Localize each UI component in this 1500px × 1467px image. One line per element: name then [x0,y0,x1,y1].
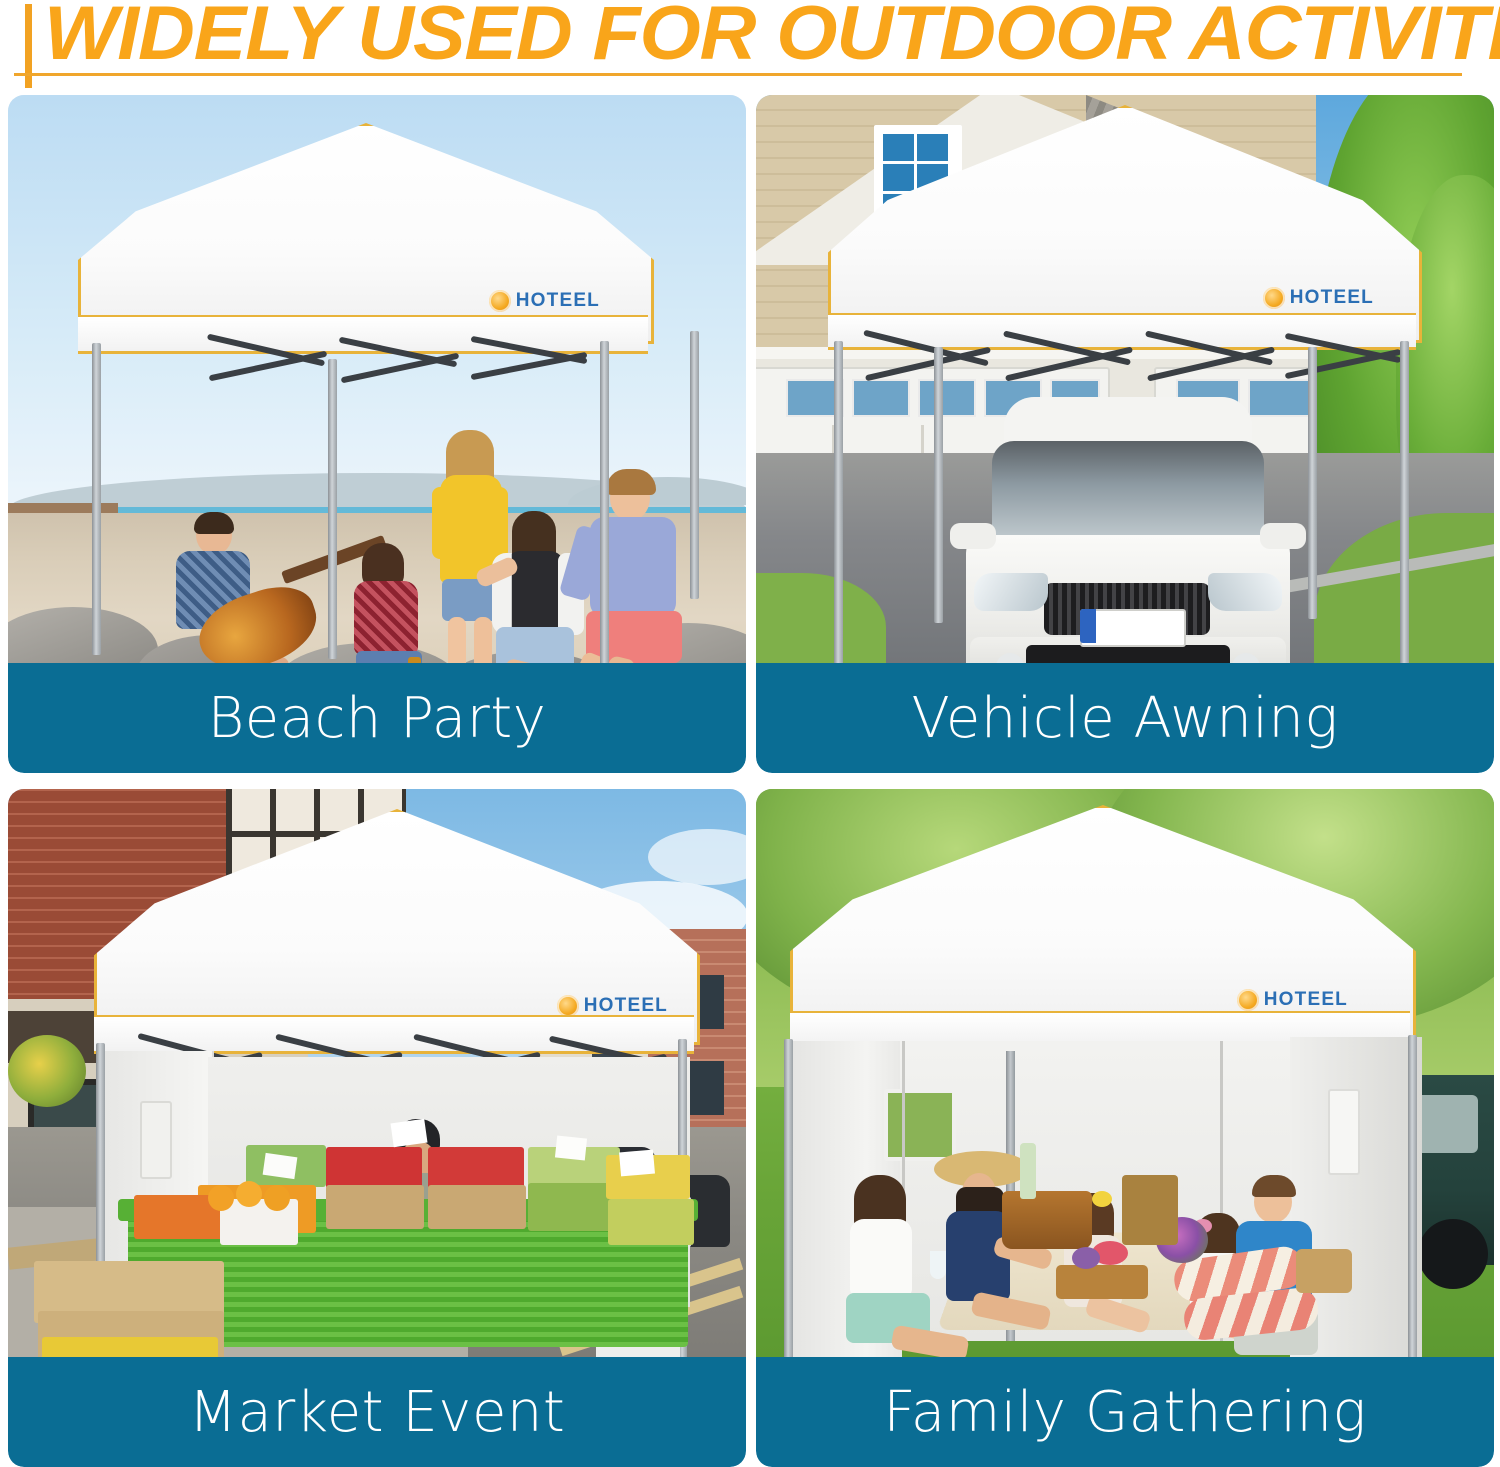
scene-beach: HOTEEL [8,95,746,663]
canopy-market: HOTEEL [94,809,694,1039]
canopy-sun-logo-icon [1237,989,1259,1011]
caption-bar: Vehicle Awning [756,663,1494,773]
canopy-driveway: HOTEEL [828,105,1416,337]
canopy-sun-logo-icon [489,290,511,312]
canopy-leg-front-right [1400,341,1409,663]
wooden-chair [1122,1175,1178,1245]
car-windshield [992,441,1264,549]
license-plate-eu-band [1080,609,1096,643]
panel-caption: Vehicle Awning [911,686,1338,751]
picnic-food-tray [1056,1265,1148,1299]
caption-bar: Beach Party [8,663,746,773]
torso [850,1219,912,1297]
crate-box-card-2 [428,1185,526,1229]
leg [448,617,466,663]
brand-name: HOTEEL [1264,989,1348,1011]
scene-backyard: HOTEEL [756,789,1494,1357]
fruit-grapes [1072,1247,1100,1269]
canopy-leg-front-right [600,341,609,663]
crate-box-card-1 [326,1185,424,1229]
page-title: WIDELY USED FOR OUTDOOR ACTIVITIES [44,0,1500,74]
panel-family-gathering[interactable]: HOTEEL [756,789,1494,1467]
scene-driveway: HOTEEL [756,95,1494,663]
car-mirror-right [1260,523,1306,549]
caption-bar: Market Event [8,1357,746,1467]
orange-pile-2 [236,1181,262,1207]
hair [606,469,656,495]
panel-caption: Beach Party [208,686,547,751]
panel-vehicle-awning[interactable]: HOTEEL Vehicle Awning [756,95,1494,773]
canopy-leg-back-right [1308,347,1317,619]
leg [970,1291,1051,1331]
outdoor-activities-infographic: WIDELY USED FOR OUTDOOR ACTIVITIES [0,0,1500,1467]
canopy-sun-logo-icon [1263,287,1285,309]
crate-pears [608,1199,694,1245]
scene-market: HOTEEL [8,789,746,1357]
vintage-car-wheel [1418,1219,1488,1289]
header-banner: WIDELY USED FOR OUTDOOR ACTIVITIES [0,0,1500,95]
arm [432,487,450,559]
brand-logo: HOTEEL [1237,989,1348,1011]
car-lower-intake [1026,645,1230,663]
car-mirror-left [950,523,996,549]
brand-logo: HOTEEL [1263,287,1374,309]
side-pocket [1328,1089,1360,1175]
hair [1252,1175,1296,1197]
wine-glass [930,1251,946,1279]
canopy-beach: HOTEEL [78,123,648,338]
canopy-leg-front-right [1408,1035,1417,1357]
brand-logo: HOTEEL [557,995,668,1017]
person-woman-hat [928,1151,1058,1357]
price-sign-3 [619,1150,655,1177]
price-sign-1 [390,1119,427,1147]
canopy-leg-mid [328,359,337,659]
wooden-cooler [1002,1191,1092,1249]
torso [354,581,418,655]
canopy-valance [78,315,648,354]
canopy-sun-logo-icon [557,995,579,1017]
sidewall-window [140,1101,172,1179]
canopy-leg-back-left [934,347,943,623]
caption-bar: Family Gathering [756,1357,1494,1467]
panel-beach-party[interactable]: HOTEEL Beach Party [8,95,746,773]
garage-window-2 [852,379,910,417]
car-headlight-left [974,573,1048,611]
car [952,397,1304,663]
brand-name: HOTEEL [584,995,668,1017]
crate-strawberry-2 [428,1147,524,1189]
crate-strawberry-1 [326,1147,422,1189]
canopy-family: HOTEEL [790,805,1410,1035]
canopy-leg-back-right [690,331,699,599]
canopy-leg-front-left [834,341,843,663]
canopy-leg-front-left [784,1039,793,1357]
orange-pile-3 [264,1185,290,1211]
hanging-basket [8,1035,86,1107]
brand-logo: HOTEEL [489,290,600,312]
price-sign-4 [263,1153,298,1179]
brand-name: HOTEEL [1290,287,1374,309]
wine-bottle [1020,1143,1036,1199]
hair-bow [1092,1191,1112,1207]
hair [194,512,234,534]
panel-caption: Market Event [189,1380,566,1445]
car-headlight-right [1208,573,1282,611]
right-window-2 [684,1061,724,1115]
panel-market-event[interactable]: HOTEEL [8,789,746,1467]
brand-name: HOTEEL [516,290,600,312]
picnic-basket [1296,1249,1352,1293]
yellow-crate [42,1337,218,1357]
panel-caption: Family Gathering [883,1380,1366,1445]
canopy-leg-front-left [92,343,101,655]
orange-pile [208,1185,234,1211]
price-sign-2 [555,1135,587,1160]
panel-grid: HOTEEL Beach Party [0,95,1500,1467]
